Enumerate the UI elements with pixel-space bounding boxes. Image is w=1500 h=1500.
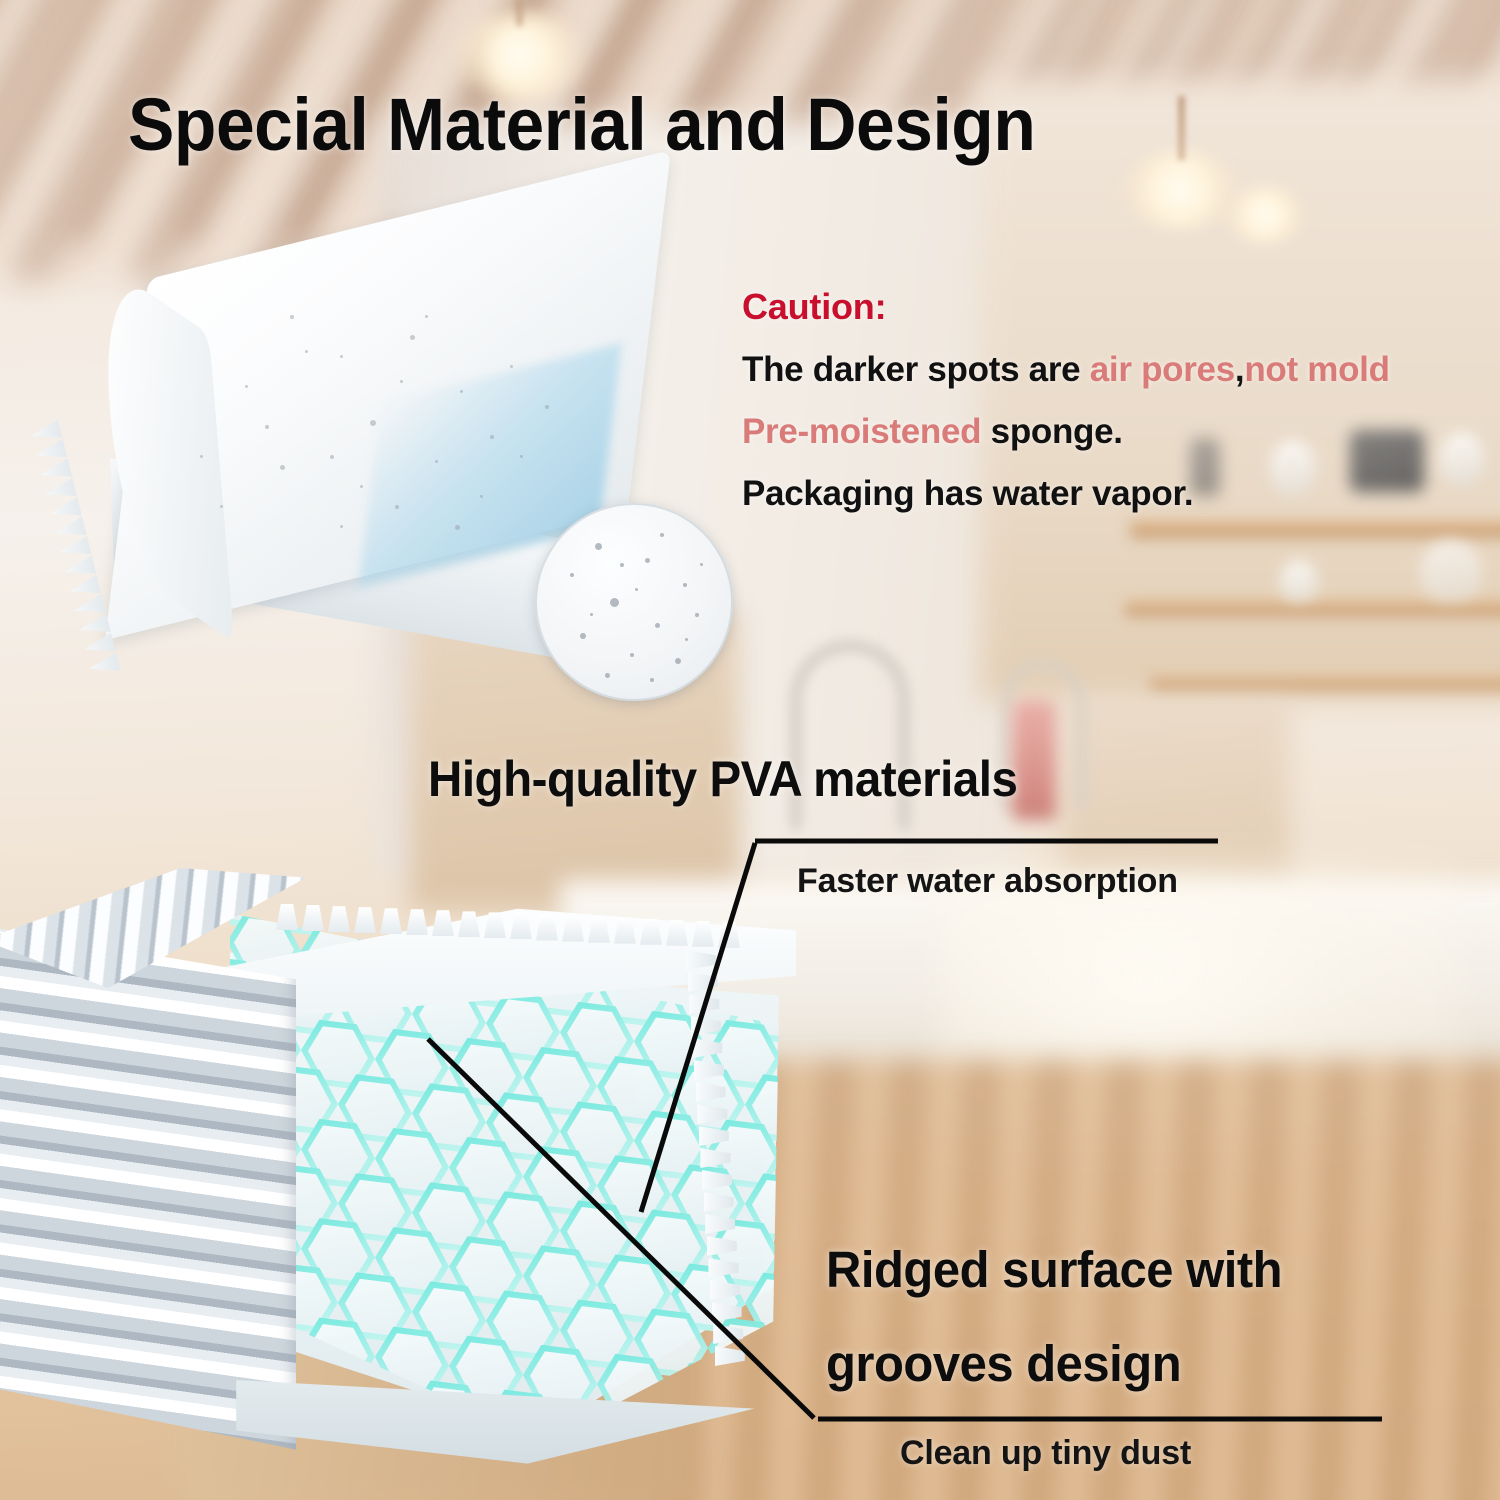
sponge-bottom-face	[236, 1380, 776, 1490]
magnified-air-pore	[683, 583, 687, 587]
serration-tooth	[536, 915, 558, 941]
feature-heading-ridged-line2: grooves design	[826, 1334, 1181, 1393]
serration-tooth	[718, 922, 740, 948]
magnified-air-pore	[635, 588, 638, 591]
serration-tooth	[704, 1192, 734, 1212]
magnified-air-pore	[650, 678, 654, 682]
serration-tooth	[700, 1148, 730, 1168]
serration-tooth	[666, 920, 688, 946]
caution-line-1: The darker spots are air pores,not mold	[742, 350, 1390, 390]
serration-tooth	[406, 909, 428, 935]
serration-tooth	[699, 1126, 729, 1146]
serration-tooth	[87, 652, 121, 678]
air-pore-speck	[305, 350, 308, 353]
serration-tooth	[713, 1324, 743, 1344]
air-pore-speck	[455, 525, 460, 530]
magnified-air-pore	[605, 673, 610, 678]
air-pore-speck	[330, 455, 334, 459]
magnified-air-pore	[595, 543, 602, 550]
serration-tooth	[710, 1280, 740, 1300]
air-pore-speck	[265, 425, 269, 429]
air-pore-speck	[290, 315, 294, 319]
serration-tooth	[510, 913, 532, 939]
feature-heading-ridged-line1: Ridged surface with	[826, 1240, 1282, 1299]
shelf-item-board	[1420, 540, 1482, 602]
magnified-air-pore	[655, 623, 660, 628]
serration-tooth	[48, 497, 82, 523]
caution-plain-text: The darker spots are	[742, 350, 1090, 389]
air-pore-speck	[410, 335, 415, 340]
caution-highlight-text: air pores	[1090, 350, 1235, 389]
wall-shelf-lower	[1125, 600, 1500, 616]
serration-tooth	[63, 555, 97, 581]
serration-tooth	[58, 536, 92, 562]
hex-cell	[708, 1415, 782, 1489]
air-pore-speck	[520, 455, 523, 458]
caution-plain-text: ,	[1235, 350, 1244, 389]
serration-tooth	[328, 906, 350, 932]
magnified-air-pore	[675, 658, 681, 664]
serration-tooth	[692, 1038, 722, 1058]
air-pore-speck	[220, 505, 223, 508]
serration-tooth	[354, 907, 376, 933]
page-title: Special Material and Design	[128, 82, 1035, 167]
wall-shelf-upper	[1130, 520, 1500, 538]
serration-tooth	[432, 910, 454, 936]
serration-tooth	[707, 1236, 737, 1256]
shelf-item-cup	[1280, 560, 1318, 602]
magnified-air-pore	[570, 573, 574, 577]
serration-tooth	[708, 1258, 738, 1278]
air-pore-speck	[340, 355, 343, 358]
infographic-canvas: Special Material and Design Caution: The…	[0, 0, 1500, 1500]
caution-block: Caution: The darker spots are air pores,…	[742, 286, 1390, 514]
serration-tooth	[640, 919, 662, 945]
caution-plain-text: sponge.	[981, 412, 1123, 451]
shelf-item-jar-2	[1440, 432, 1484, 486]
serration-tooth	[562, 916, 584, 942]
caution-heading: Caution:	[742, 286, 1390, 328]
magnified-air-pore	[645, 558, 650, 563]
serration-tooth	[688, 972, 718, 992]
serration-tooth	[588, 917, 610, 943]
magnified-air-pore	[580, 633, 586, 639]
serration-tooth	[691, 1016, 721, 1036]
magnified-air-pore	[700, 563, 703, 566]
caution-line-2: Pre-moistened sponge.	[742, 412, 1390, 452]
air-pore-speck	[460, 390, 463, 393]
air-pore-speck	[200, 455, 203, 458]
air-pore-speck	[280, 465, 285, 470]
serration-tooth	[458, 911, 480, 937]
air-pore-speck	[435, 460, 438, 463]
serration-tooth	[692, 921, 714, 947]
air-pore-speck	[480, 495, 483, 498]
serration-tooth	[82, 633, 116, 659]
serration-tooth	[697, 1104, 727, 1124]
air-pore-speck	[370, 420, 376, 426]
serration-tooth	[34, 439, 68, 465]
soap-bottle	[1012, 700, 1056, 820]
sponge-top-serrations	[276, 904, 756, 974]
block-sponge-photo	[40, 205, 750, 775]
air-pore-magnifier-circle	[535, 503, 733, 701]
pendant-stem-2	[1178, 96, 1185, 160]
feature-heading-pva: High-quality PVA materials	[428, 750, 1017, 808]
serration-tooth	[689, 994, 719, 1014]
pendant-stem-1	[516, 0, 523, 26]
magnified-air-pore	[610, 598, 619, 607]
caution-line-3: Packaging has water vapor.	[742, 474, 1390, 514]
feature-subtitle-pva: Faster water absorption	[797, 862, 1178, 901]
magnified-air-pore	[620, 563, 624, 567]
feature-subtitle-ridged: Clean up tiny dust	[900, 1434, 1191, 1473]
serration-tooth	[72, 594, 106, 620]
sponge-right-serrations	[686, 950, 796, 1390]
serration-tooth	[43, 478, 77, 504]
serration-tooth	[77, 613, 111, 639]
magnified-air-pore	[590, 613, 593, 616]
caution-highlight-text: Pre-moistened	[742, 412, 981, 451]
serration-tooth	[694, 1060, 724, 1080]
serration-tooth	[484, 912, 506, 938]
serration-tooth	[614, 918, 636, 944]
serration-tooth	[696, 1082, 726, 1102]
air-pore-speck	[510, 365, 513, 368]
serration-tooth	[686, 950, 716, 970]
serration-tooth	[67, 575, 101, 601]
pendant-light-3	[1222, 186, 1308, 244]
serration-tooth	[715, 1346, 745, 1366]
air-pore-speck	[490, 435, 494, 439]
magnified-air-pore	[685, 638, 688, 641]
honeycomb-sponge-photo	[0, 860, 796, 1500]
air-pore-speck	[395, 505, 399, 509]
serration-tooth	[380, 908, 402, 934]
wall-shelf-bottom	[1150, 676, 1500, 690]
serration-tooth	[38, 458, 72, 484]
caution-plain-text: Packaging has water vapor.	[742, 474, 1193, 513]
air-pore-speck	[245, 385, 248, 388]
serration-tooth	[276, 904, 298, 930]
serration-tooth	[302, 905, 324, 931]
air-pore-speck	[360, 485, 363, 488]
serration-tooth	[702, 1170, 732, 1190]
serration-tooth	[53, 516, 87, 542]
air-pore-speck	[400, 380, 403, 383]
air-pore-speck	[545, 405, 549, 409]
magnified-air-pore	[660, 533, 664, 537]
serration-tooth	[712, 1302, 742, 1322]
air-pore-speck	[340, 525, 343, 528]
serration-tooth	[705, 1214, 735, 1234]
caution-highlight-text: not mold	[1244, 350, 1389, 389]
magnified-air-pore	[695, 613, 699, 617]
air-pore-speck	[425, 315, 428, 318]
magnified-air-pore	[630, 653, 634, 657]
